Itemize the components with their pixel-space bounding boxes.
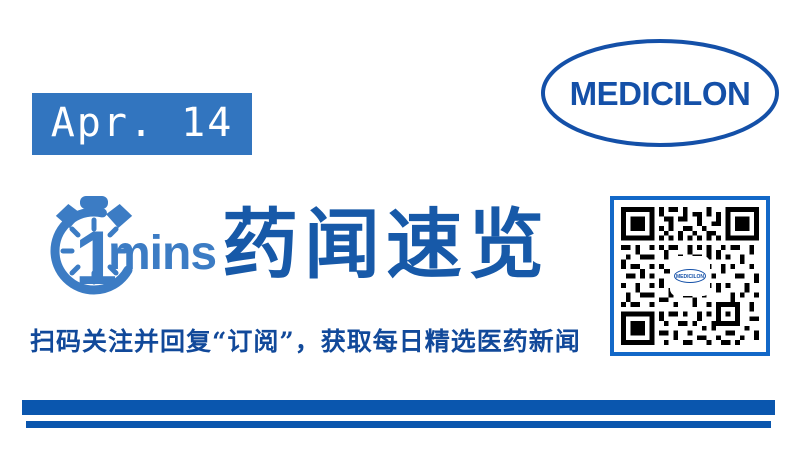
qr-code-modules: MEDICILON [621,207,759,345]
date-badge-label: Apr. 14 [51,103,234,146]
headline: 药闻速览 [222,203,550,287]
subtitle: 扫码关注并回复“订阅”，获取每日精选医药新闻 [30,327,581,357]
qr-code[interactable]: MEDICILON [610,196,770,356]
medicilon-logo-text: MEDICILON [570,75,751,112]
mins-label: mins [108,230,216,278]
poster-canvas: Apr. 14 MEDICILON [0,0,800,468]
footer-rule-thin [26,421,771,428]
qr-center-logo-text: MEDICILON [676,274,704,280]
qr-center-logo: MEDICILON [670,256,710,296]
medicilon-logo: MEDICILON [540,38,780,148]
date-badge: Apr. 14 [32,93,252,155]
footer-rule-thick [22,400,775,415]
